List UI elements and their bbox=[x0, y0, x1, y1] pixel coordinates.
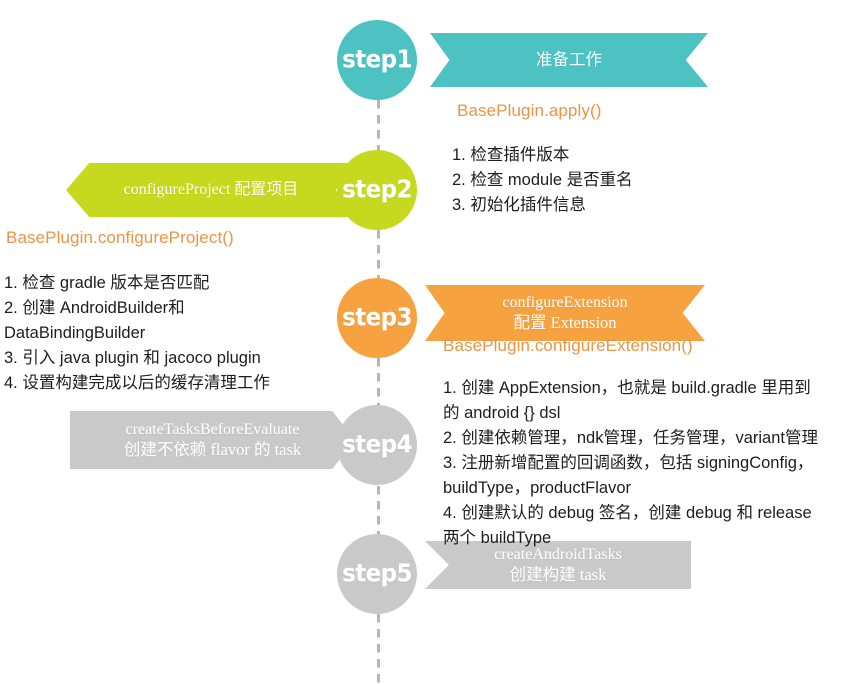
node-step4-label: step4 bbox=[342, 431, 412, 459]
node-step2-label: step2 bbox=[342, 176, 412, 204]
banner-step1[interactable]: 准备工作 bbox=[430, 33, 708, 87]
node-step1-label: step1 bbox=[342, 46, 412, 74]
banner-step3-line-2: 配置 Extension bbox=[513, 313, 616, 332]
connector-dashed-line-4-5 bbox=[377, 614, 380, 684]
flow-diagram-canvas: 准备工作 step1 BasePlugin.apply() 1. 检查插件版本 … bbox=[0, 0, 864, 684]
connector-dashed-line-top bbox=[377, 100, 380, 152]
node-step1[interactable]: step1 bbox=[337, 20, 417, 100]
connector-dashed-line-3-4 bbox=[377, 486, 380, 534]
banner-step4-line-2: 创建不依赖 flavor 的 task bbox=[124, 440, 301, 459]
node-step3-label: step3 bbox=[342, 304, 412, 332]
banner-step2-line-1: configureProject 配置项目 bbox=[124, 181, 299, 200]
node-step3[interactable]: step3 bbox=[337, 278, 417, 358]
code-label-step3: BasePlugin.configureExtension() bbox=[443, 336, 693, 356]
node-step5-label: step5 bbox=[342, 560, 412, 588]
code-label-step2: BasePlugin.configureProject() bbox=[6, 228, 234, 248]
connector-dashed-line-2-3 bbox=[377, 358, 380, 406]
code-label-step1: BasePlugin.apply() bbox=[457, 101, 602, 121]
banner-step5-line-2: 创建构建 task bbox=[510, 565, 607, 584]
node-step4[interactable]: step4 bbox=[337, 405, 417, 485]
connector-dashed-line-1-2 bbox=[377, 230, 380, 278]
node-step5[interactable]: step5 bbox=[337, 534, 417, 614]
details-step2: 1. 检查 gradle 版本是否匹配 2. 创建 AndroidBuilder… bbox=[4, 271, 344, 396]
banner-step1-line-1: 准备工作 bbox=[536, 50, 602, 69]
banner-step3-line-1: configureExtension bbox=[502, 294, 627, 313]
node-step2[interactable]: step2 bbox=[337, 150, 417, 230]
details-step1: 1. 检查插件版本 2. 检查 module 是否重名 3. 初始化插件信息 bbox=[452, 143, 812, 218]
banner-step4[interactable]: createTasksBeforeEvaluate 创建不依赖 flavor 的… bbox=[70, 411, 355, 469]
details-step3: 1. 创建 AppExtension，也就是 build.gradle 里用到 … bbox=[443, 376, 858, 552]
banner-step3[interactable]: configureExtension 配置 Extension bbox=[425, 285, 705, 341]
banner-step4-line-1: createTasksBeforeEvaluate bbox=[126, 421, 300, 440]
banner-step2[interactable]: configureProject 配置项目 bbox=[66, 163, 356, 217]
